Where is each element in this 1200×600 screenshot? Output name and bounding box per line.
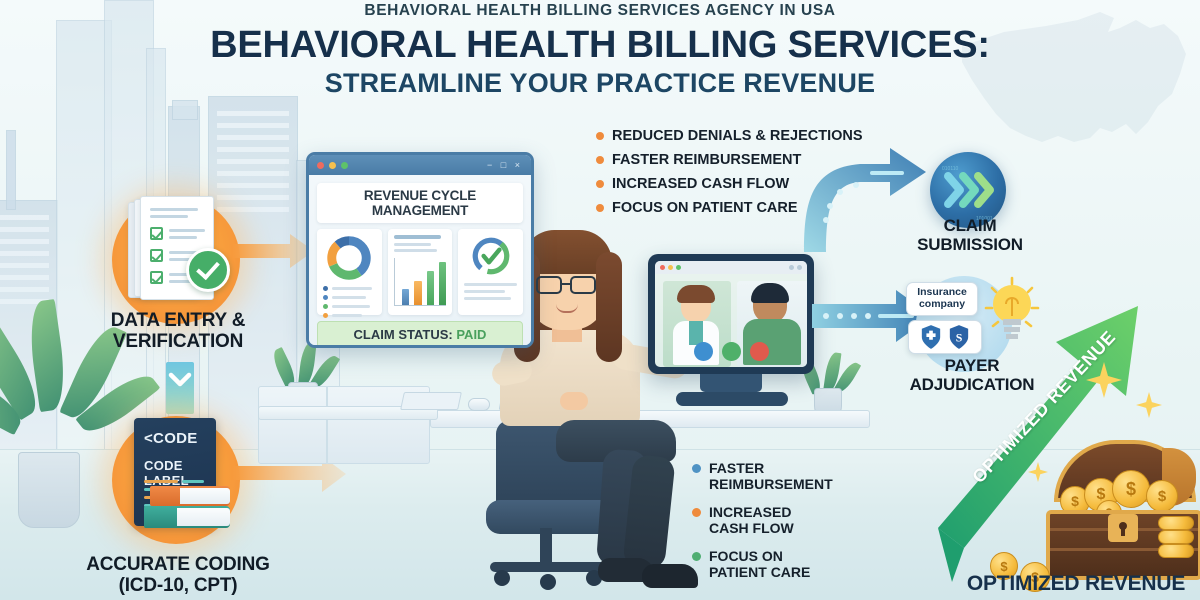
background-antenna <box>6 130 16 210</box>
bullet-dot <box>692 508 701 517</box>
benefit-text: FASTER REIMBURSEMENT <box>612 152 801 168</box>
bullet-dot <box>692 464 701 473</box>
bullet-dot <box>596 132 604 140</box>
donut-chart-card <box>317 229 382 315</box>
call-end-button[interactable] <box>750 342 769 361</box>
tablet-stand-base <box>676 392 788 406</box>
dashboard-cards <box>317 229 523 315</box>
background-building-top <box>172 100 198 120</box>
clinician-hair <box>677 285 715 303</box>
arrow-data-entry-to-monitor <box>232 228 316 274</box>
chair-wheel <box>540 574 556 590</box>
benefit-text: FASTER REIMBURSEMENT <box>709 460 833 492</box>
cabinet-divider <box>326 386 328 464</box>
list-item: INCREASED CASH FLOW <box>692 504 852 536</box>
bar-q1 <box>402 289 409 305</box>
claim-check-card <box>458 229 523 315</box>
benefit-text: INCREASED CASH FLOW <box>709 504 794 536</box>
list-item: FASTER REIMBURSEMENT <box>692 460 852 492</box>
sparkle-icon <box>1028 462 1048 482</box>
clipboard <box>400 392 462 410</box>
sparkle-icon <box>1086 362 1122 398</box>
video-window-bar <box>655 261 807 274</box>
approved-check-icon <box>470 235 512 277</box>
coin: $ <box>1112 470 1150 508</box>
node-label-data-entry: DATA ENTRY & VERIFICATION <box>74 310 282 353</box>
dashboard-title: REVENUE CYCLE MANAGEMENT <box>317 183 523 223</box>
bullet-dot <box>596 180 604 188</box>
window-close-dot[interactable] <box>317 162 324 169</box>
chevron-down-icon <box>166 368 194 394</box>
claim-status-label: CLAIM STATUS: <box>354 327 453 342</box>
bullet-dot <box>692 552 701 561</box>
window-controls[interactable]: − □ × <box>487 160 523 170</box>
benefits-list-bottom: FASTER REIMBURSEMENT INCREASED CASH FLOW… <box>692 460 852 581</box>
benefit-text: INCREASED CASH FLOW <box>612 176 789 192</box>
page-subtitle: STREAMLINE YOUR PRACTICE REVENUE <box>0 68 1200 99</box>
node-label-claim-submission: CLAIM SUBMISSION <box>888 216 1052 254</box>
telehealth-tablet[interactable] <box>648 254 814 374</box>
node-label-accurate-coding: ACCURATE CODING (ICD-10, CPT) <box>62 554 294 597</box>
benefit-text: FOCUS ON PATIENT CARE <box>612 200 798 216</box>
list-item: FOCUS ON PATIENT CARE <box>692 548 852 580</box>
window-minimize-dot[interactable] <box>329 162 336 169</box>
video-call-screen <box>655 261 807 367</box>
bullet-dot <box>596 156 604 164</box>
page-title: BEHAVIORAL HEALTH BILLING SERVICES: <box>0 24 1200 67</box>
sparkle-icon <box>1136 392 1162 418</box>
svg-text:010110: 010110 <box>942 166 959 172</box>
window-titlebar: − □ × <box>309 155 531 175</box>
donut-legend <box>323 286 376 318</box>
bar-q4 <box>439 262 446 305</box>
tablet-stand-neck <box>700 374 762 392</box>
coin-stack <box>1158 516 1194 530</box>
coin: $ <box>1146 480 1178 512</box>
bar-q2 <box>414 281 421 305</box>
mouse <box>468 398 490 411</box>
bar-q3 <box>427 271 434 305</box>
window-maximize-dot[interactable] <box>341 162 348 169</box>
call-controls[interactable] <box>655 342 807 361</box>
infographic-canvas: BEHAVIORAL HEALTH BILLING SERVICES AGENC… <box>0 0 1200 600</box>
chair-wheel <box>494 570 510 586</box>
check-card-lines <box>464 283 517 300</box>
node-label-optimized-revenue: OPTIMIZED REVENUE <box>952 572 1200 596</box>
kicker-text: BEHAVIORAL HEALTH BILLING SERVICES AGENC… <box>0 2 1200 20</box>
bar-chart <box>394 258 447 306</box>
bullet-dot <box>596 204 604 212</box>
claim-status-value: PAID <box>456 327 486 342</box>
call-video-button[interactable] <box>722 342 741 361</box>
claim-status-banner: CLAIM STATUS: PAID <box>317 321 523 348</box>
donut-chart <box>326 235 372 281</box>
call-audio-button[interactable] <box>694 342 713 361</box>
benefit-text: FOCUS ON PATIENT CARE <box>709 548 810 580</box>
rcm-dashboard-monitor[interactable]: − □ × REVENUE CYCLE MANAGEMENT <box>306 152 534 348</box>
coin-stack <box>1158 544 1194 558</box>
bar-chart-card <box>388 229 453 315</box>
dashboard-screen: REVENUE CYCLE MANAGEMENT <box>309 175 531 345</box>
coin-stack <box>1158 530 1194 544</box>
